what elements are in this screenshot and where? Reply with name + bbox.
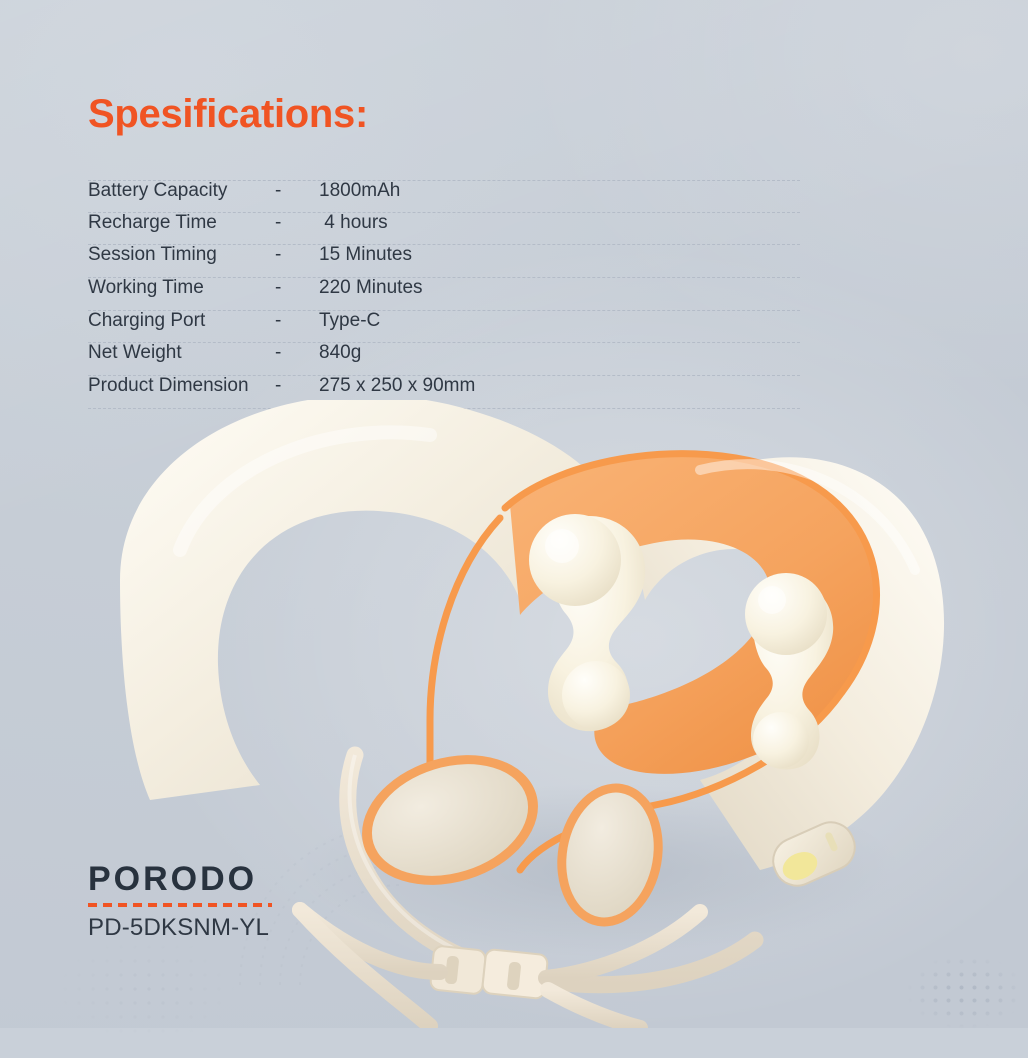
spec-value: 4 hours [319, 213, 800, 232]
table-row: Recharge Time - 4 hours [88, 213, 800, 246]
page-title: Spesifications: [88, 92, 368, 137]
spec-label: Charging Port [88, 311, 275, 330]
spec-value: 275 x 250 x 90mm [319, 376, 800, 395]
spec-value: Type-C [319, 311, 800, 330]
spec-value: 220 Minutes [319, 278, 800, 297]
spec-label: Working Time [88, 278, 275, 297]
spec-separator: - [275, 343, 319, 362]
table-row: Battery Capacity - 1800mAh [88, 180, 800, 213]
table-row: Working Time - 220 Minutes [88, 278, 800, 311]
spec-separator: - [275, 311, 319, 330]
spec-separator: - [275, 245, 319, 264]
spec-label: Battery Capacity [88, 181, 275, 200]
table-row: Net Weight - 840g [88, 343, 800, 376]
spec-label: Session Timing [88, 245, 275, 264]
product-model-number: PD-5DKSNM-YL [88, 916, 272, 940]
spec-label: Product Dimension [88, 376, 275, 395]
massage-node-left [529, 514, 645, 731]
spec-separator: - [275, 278, 319, 297]
spec-value: 840g [319, 343, 800, 362]
spec-label: Net Weight [88, 343, 275, 362]
brand-dashed-rule [88, 903, 272, 907]
spec-separator: - [275, 213, 319, 232]
brand-block: PORODO PD-5DKSNM-YL [88, 862, 272, 940]
table-row: Session Timing - 15 Minutes [88, 245, 800, 278]
spec-separator: - [275, 376, 319, 395]
table-row: Charging Port - Type-C [88, 311, 800, 344]
brand-logo-wordmark: PORODO [88, 862, 272, 896]
spec-value: 1800mAh [319, 181, 800, 200]
spec-separator: - [275, 181, 319, 200]
spec-value: 15 Minutes [319, 245, 800, 264]
specifications-table: Battery Capacity - 1800mAh Recharge Time… [88, 180, 800, 409]
spec-label: Recharge Time [88, 213, 275, 232]
